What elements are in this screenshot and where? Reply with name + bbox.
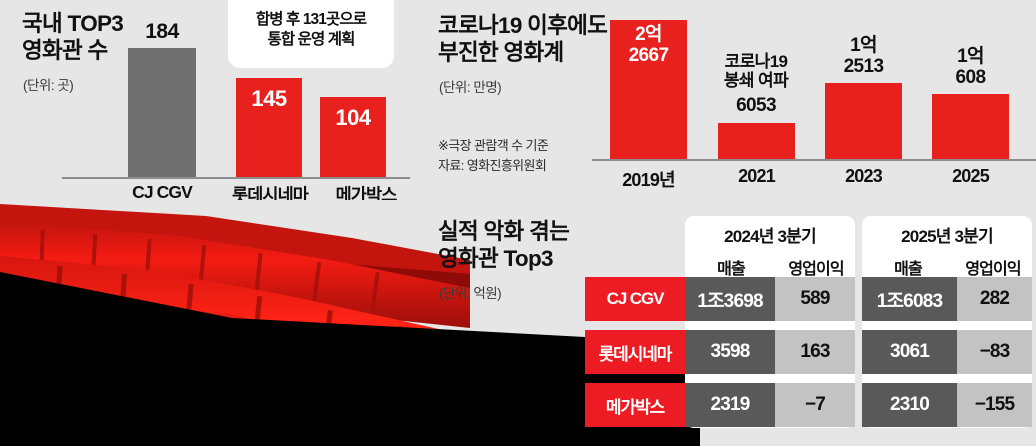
bar-value-2023-line2: 2513 xyxy=(825,56,902,77)
bar-value-2025-line1: 1억 xyxy=(932,46,1009,67)
panel2-note-line1: ※극장 관람객 수 기준 xyxy=(438,136,548,156)
bar-2023 xyxy=(825,83,902,159)
cell-megabox-profit-2024: −7 xyxy=(775,383,855,427)
cell-megabox-revenue-2025: 2310 xyxy=(862,383,957,427)
bar-value-cj-cgv: 184 xyxy=(128,20,196,44)
panel1-title-line2: 영화관 수 xyxy=(22,37,123,64)
bar-value-2023: 1억 2513 xyxy=(825,35,902,78)
bar-value-2023-line1: 1억 xyxy=(825,35,902,56)
bar-value-2019-line2: 2667 xyxy=(610,45,687,66)
panel2-title-line2: 부진한 영화계 xyxy=(438,39,607,66)
bar-value-2021-number: 6053 xyxy=(706,95,806,116)
panel-results-table: 실적 악화 겪는 영화관 Top3 (단위: 억원) 2024년 3분기 202… xyxy=(430,200,1036,446)
cell-megabox-revenue-2024: 2319 xyxy=(685,383,775,427)
x-label-2019: 2019년 xyxy=(602,166,695,192)
column-header-revenue-2025: 매출 xyxy=(862,255,954,279)
panel2-title-line1: 코로나19 이후에도 xyxy=(438,12,607,39)
column-header-operating-profit-2025: 영업이익 xyxy=(954,255,1032,279)
merger-callout-text: 합병 후 131곳으로 통합 운영 계획 xyxy=(228,10,394,51)
panel2-unit-label: (단위: 만명) xyxy=(439,76,501,96)
column-header-revenue-2024: 매출 xyxy=(685,255,777,279)
merger-callout-box: 합병 후 131곳으로 통합 운영 계획 xyxy=(228,0,394,68)
table-group-header-2025: 2025년 3분기 xyxy=(862,222,1032,247)
table-group-header-2024: 2024년 3분기 xyxy=(685,222,855,247)
bar-2025 xyxy=(932,94,1009,159)
annotation-2021-line2: 봉쇄 여파 xyxy=(706,71,806,90)
x-label-2025: 2025 xyxy=(924,166,1017,187)
cell-lotte-profit-2024: 163 xyxy=(775,330,855,374)
table-row-label-lotte-cinema: 롯데시네마 xyxy=(585,330,685,374)
panel-top3-cinema-count: 국내 TOP3 영화관 수 (단위: 곳) 184 145 104 CJ CGV… xyxy=(0,0,418,200)
panel1-unit-label: (단위: 곳) xyxy=(23,74,73,94)
cell-cj-cgv-revenue-2025: 1조6083 xyxy=(862,277,957,321)
bar-value-lotte-cinema: 145 xyxy=(236,86,302,112)
bar-cj-cgv xyxy=(128,48,196,177)
table-row-label-cj-cgv: CJ CGV xyxy=(585,277,685,321)
panel2-note-line2: 자료: 영화진흥위원회 xyxy=(438,156,548,176)
cell-cj-cgv-profit-2025: 282 xyxy=(957,277,1032,321)
bar-2021 xyxy=(718,123,795,159)
cell-lotte-revenue-2024: 3598 xyxy=(685,330,775,374)
panel3-unit-label: (단위: 억원) xyxy=(439,282,501,302)
panel2-title: 코로나19 이후에도 부진한 영화계 xyxy=(438,12,607,67)
panel1-title: 국내 TOP3 영화관 수 xyxy=(22,10,123,65)
table-column-headers-2025: 매출 영업이익 xyxy=(862,255,1032,279)
panel1-axis-line xyxy=(62,177,410,179)
infographic-root: 국내 TOP3 영화관 수 (단위: 곳) 184 145 104 CJ CGV… xyxy=(0,0,1036,446)
bar-value-megabox: 104 xyxy=(320,105,386,131)
merger-callout-line2: 통합 운영 계획 xyxy=(228,30,394,50)
panel3-title-line1: 실적 악화 겪는 xyxy=(438,218,569,245)
panel-admissions-trend: 코로나19 이후에도 부진한 영화계 (단위: 만명) ※극장 관람객 수 기준… xyxy=(430,0,1036,200)
table-column-headers-2024: 매출 영업이익 xyxy=(685,255,855,279)
bar-value-2021: 코로나19 봉쇄 여파 6053 xyxy=(706,52,806,116)
column-header-operating-profit-2024: 영업이익 xyxy=(777,255,855,279)
panel3-title: 실적 악화 겪는 영화관 Top3 xyxy=(438,218,569,273)
panel3-title-line2: 영화관 Top3 xyxy=(438,245,569,272)
cell-lotte-profit-2025: −83 xyxy=(957,330,1032,374)
x-label-2021: 2021 xyxy=(710,166,803,187)
panel1-title-line1: 국내 TOP3 xyxy=(22,10,123,37)
bar-value-2019: 2억 2667 xyxy=(610,24,687,67)
bar-value-2025: 1억 608 xyxy=(932,46,1009,89)
annotation-2021-line1: 코로나19 xyxy=(706,52,806,71)
panel2-source-note: ※극장 관람객 수 기준 자료: 영화진흥위원회 xyxy=(438,136,548,175)
merger-callout-line1: 합병 후 131곳으로 xyxy=(228,10,394,30)
bar-value-2019-line1: 2억 xyxy=(610,24,687,45)
bar-value-2025-line2: 608 xyxy=(932,67,1009,88)
cell-megabox-profit-2025: −155 xyxy=(957,383,1032,427)
cell-cj-cgv-profit-2024: 589 xyxy=(775,277,855,321)
table-row-label-megabox: 메가박스 xyxy=(585,383,685,427)
x-label-2023: 2023 xyxy=(817,166,910,187)
panel2-axis-line xyxy=(592,159,1036,161)
cell-lotte-revenue-2025: 3061 xyxy=(862,330,957,374)
cell-cj-cgv-revenue-2024: 1조3698 xyxy=(685,277,775,321)
